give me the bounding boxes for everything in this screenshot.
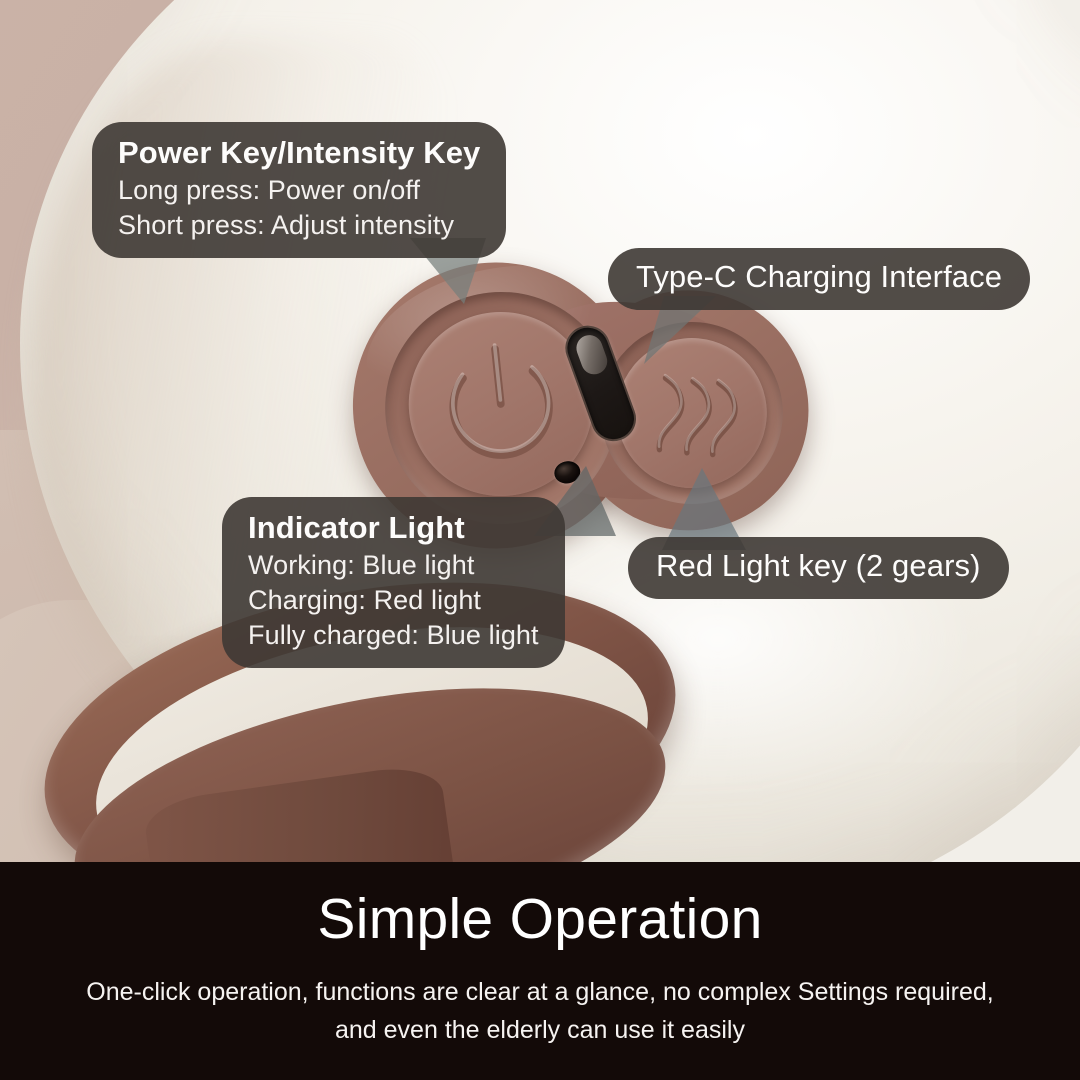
callout-indicator-line-2: Charging: Red light — [248, 583, 539, 618]
banner-subtitle: One-click operation, functions are clear… — [0, 973, 1080, 1049]
callout-indicator-light[interactable]: Indicator Light Working: Blue light Char… — [222, 497, 565, 668]
callout-type-c[interactable]: Type-C Charging Interface — [608, 248, 1030, 310]
callout-indicator-title: Indicator Light — [248, 508, 539, 548]
banner-subtitle-line-1: One-click operation, functions are clear… — [0, 973, 1080, 1011]
banner-subtitle-line-2: and even the elderly can use it easily — [0, 1011, 1080, 1049]
callout-power-line-2: Short press: Adjust intensity — [118, 208, 480, 243]
callout-indicator-line-3: Fully charged: Blue light — [248, 618, 539, 653]
product-photo: Power Key/Intensity Key Long press: Powe… — [0, 0, 1080, 862]
callout-power-key[interactable]: Power Key/Intensity Key Long press: Powe… — [92, 122, 506, 258]
callout-indicator-line-1: Working: Blue light — [248, 548, 539, 583]
callout-power-title: Power Key/Intensity Key — [118, 133, 480, 173]
callout-red-light-title: Red Light key (2 gears) — [656, 546, 981, 586]
callout-type-c-title: Type-C Charging Interface — [636, 257, 1002, 297]
callout-power-line-1: Long press: Power on/off — [118, 173, 480, 208]
bottom-banner: Simple Operation One-click operation, fu… — [0, 862, 1080, 1080]
usb-c-port-icon — [573, 331, 611, 377]
banner-title: Simple Operation — [0, 888, 1080, 951]
callout-red-light-key[interactable]: Red Light key (2 gears) — [628, 537, 1009, 599]
